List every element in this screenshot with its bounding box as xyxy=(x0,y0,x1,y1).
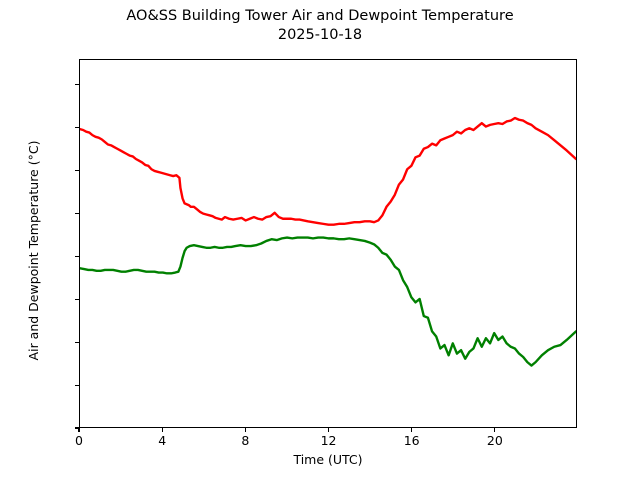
x-axis-label: Time (UTC) xyxy=(79,452,577,467)
chart-canvas xyxy=(80,60,576,427)
x-tick-label: 8 xyxy=(241,433,249,448)
x-tick-mark xyxy=(411,428,412,432)
x-tick-mark xyxy=(245,428,246,432)
x-tick-label: 0 xyxy=(75,433,83,448)
x-tick-label: 4 xyxy=(158,433,166,448)
chart-title: AO&SS Building Tower Air and Dewpoint Te… xyxy=(0,7,640,45)
y-axis-label: Air and Dewpoint Temperature (°C) xyxy=(26,66,41,435)
x-tick-label: 20 xyxy=(487,433,503,448)
plot-area xyxy=(79,59,577,428)
x-tick-mark xyxy=(162,428,163,432)
x-tick-label: 16 xyxy=(404,433,420,448)
air-temperature-line xyxy=(80,118,576,225)
x-tick-mark xyxy=(328,428,329,432)
chart-figure: AO&SS Building Tower Air and Dewpoint Te… xyxy=(0,0,640,480)
dewpoint-line xyxy=(80,238,576,366)
x-tick-label: 12 xyxy=(321,433,337,448)
x-tick-mark xyxy=(494,428,495,432)
x-tick-mark xyxy=(78,428,79,432)
